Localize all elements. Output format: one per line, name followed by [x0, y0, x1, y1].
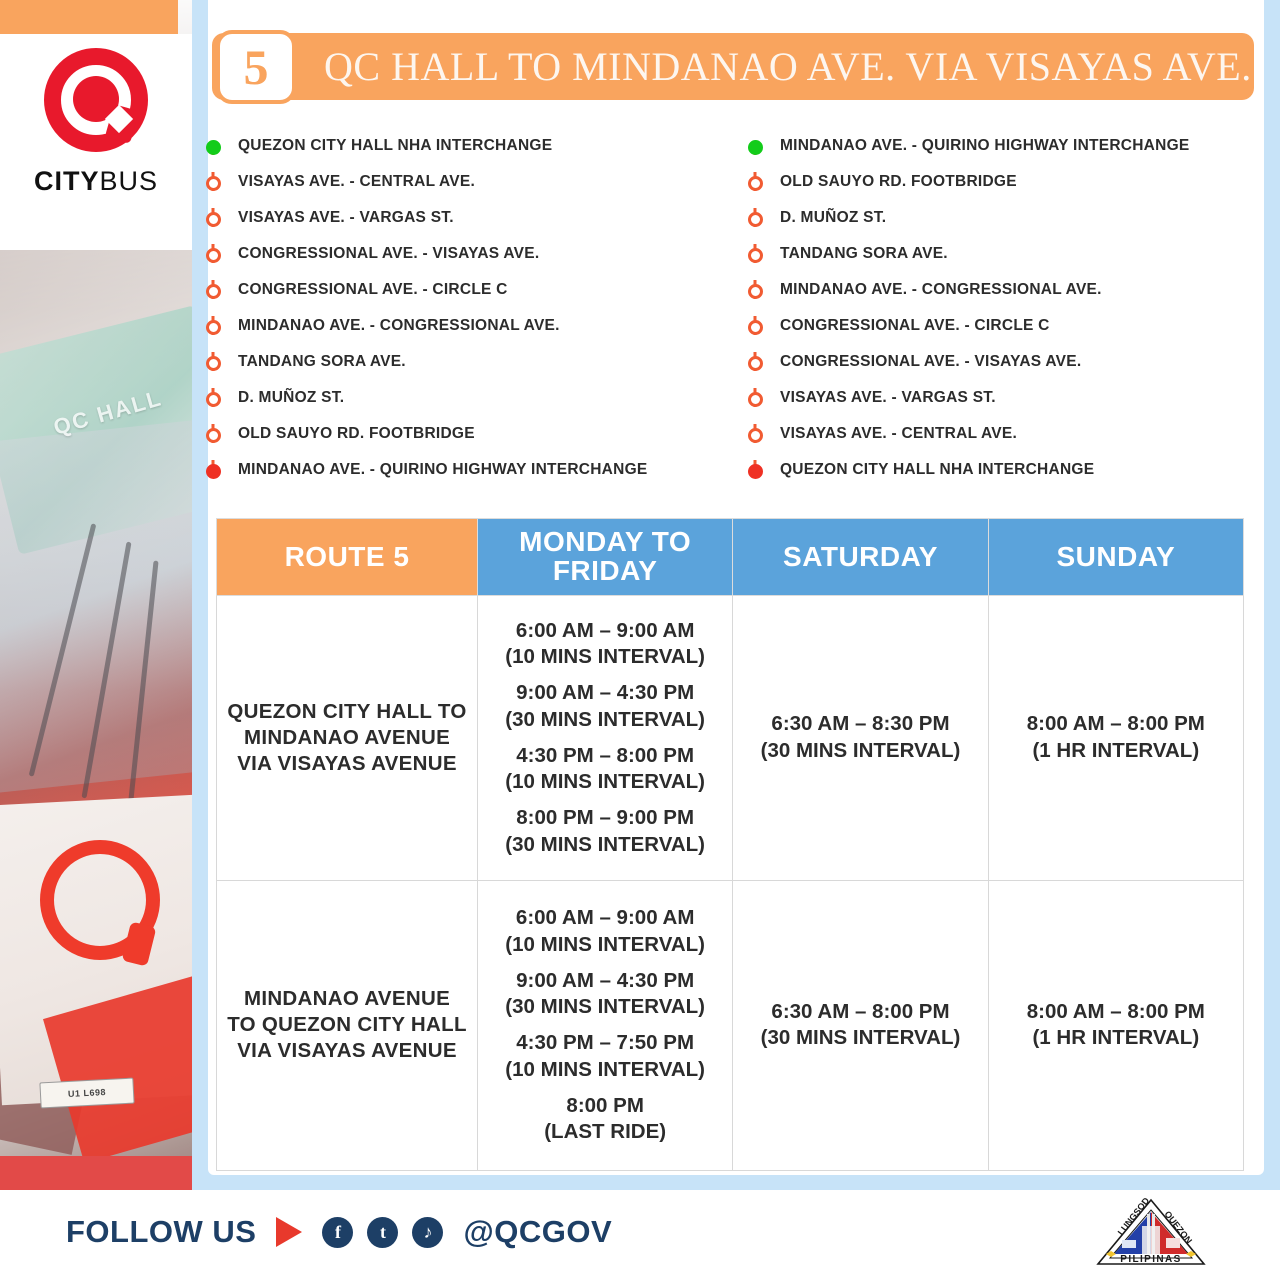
- station-marker-stop: [206, 320, 221, 335]
- citybus-brand: CITYBUS: [0, 48, 192, 238]
- station-name: CONGRESSIONAL AVE. - CIRCLE C: [230, 280, 508, 299]
- station-row[interactable]: QUEZON CITY HALL NHA INTERCHANGE: [738, 460, 1238, 496]
- schedule-block: 9:00 AM – 4:30 PM(30 MINS INTERVAL): [484, 680, 726, 732]
- station-list-inbound: MINDANAO AVE. - QUIRINO HIGHWAY INTERCHA…: [738, 136, 1238, 496]
- station-rail: [738, 208, 772, 227]
- station-marker-stop: [206, 284, 221, 299]
- follow-us-block: FOLLOW US f t ♪ @QCGOV: [66, 1214, 612, 1250]
- station-row[interactable]: VISAYAS AVE. - VARGAS ST.: [196, 208, 716, 244]
- route-number-badge: 5: [216, 30, 296, 104]
- station-rail: [196, 352, 230, 371]
- photo-bottom-red-bar: [0, 1156, 192, 1190]
- station-row[interactable]: OLD SAUYO RD. FOOTBRIDGE: [738, 172, 1238, 208]
- station-row[interactable]: CONGRESSIONAL AVE. - VISAYAS AVE.: [738, 352, 1238, 388]
- station-row[interactable]: CONGRESSIONAL AVE. - CIRCLE C: [738, 316, 1238, 352]
- sunday-schedule-cell: 8:00 AM – 8:00 PM(1 HR INTERVAL): [988, 880, 1243, 1170]
- station-row[interactable]: OLD SAUYO RD. FOOTBRIDGE: [196, 424, 716, 460]
- citybus-wordmark: CITYBUS: [34, 166, 158, 197]
- station-rail: [196, 280, 230, 299]
- facebook-icon[interactable]: f: [322, 1217, 353, 1248]
- station-rail: [738, 388, 772, 407]
- station-rail: [196, 208, 230, 227]
- citybus-q-logo-icon: [44, 48, 148, 152]
- station-name: QUEZON CITY HALL NHA INTERCHANGE: [772, 460, 1094, 479]
- bus-plate-number: U1 L698: [39, 1078, 134, 1109]
- schedule-block: 9:00 AM – 4:30 PM(30 MINS INTERVAL): [484, 968, 726, 1020]
- station-name: VISAYAS AVE. - VARGAS ST.: [772, 388, 996, 407]
- station-name: TANDANG SORA AVE.: [230, 352, 406, 371]
- footer: FOLLOW US f t ♪ @QCGOV LUNGSOD QUEZON PI…: [0, 1190, 1280, 1280]
- station-name: D. MUÑOZ ST.: [230, 388, 344, 407]
- station-row[interactable]: TANDANG SORA AVE.: [196, 352, 716, 388]
- twitter-icon[interactable]: t: [367, 1217, 398, 1248]
- header-saturday: SATURDAY: [733, 519, 988, 596]
- station-row[interactable]: MINDANAO AVE. - QUIRINO HIGHWAY INTERCHA…: [738, 136, 1238, 172]
- saturday-schedule-cell: 6:30 AM – 8:30 PM(30 MINS INTERVAL): [733, 596, 988, 881]
- station-name: MINDANAO AVE. - QUIRINO HIGHWAY INTERCHA…: [230, 460, 647, 479]
- station-row[interactable]: MINDANAO AVE. - CONGRESSIONAL AVE.: [738, 280, 1238, 316]
- station-rail: [738, 460, 772, 479]
- station-row[interactable]: VISAYAS AVE. - VARGAS ST.: [738, 388, 1238, 424]
- schedule-table: ROUTE 5 MONDAY TOFRIDAY SATURDAY SUNDAY …: [216, 518, 1244, 1171]
- seal-pilipinas-text: PILIPINAS: [1120, 1254, 1182, 1265]
- station-rail: [196, 460, 230, 479]
- station-marker-stop: [206, 212, 221, 227]
- station-name: MINDANAO AVE. - CONGRESSIONAL AVE.: [772, 280, 1102, 299]
- row-direction-label: QUEZON CITY HALL TO MINDANAO AVENUE VIA …: [217, 596, 478, 881]
- station-rail: [738, 424, 772, 443]
- station-rail: [738, 136, 772, 155]
- station-rail: [196, 172, 230, 191]
- weekday-schedule-cell: 6:00 AM – 9:00 AM(10 MINS INTERVAL)9:00 …: [478, 596, 733, 881]
- station-name: D. MUÑOZ ST.: [772, 208, 886, 227]
- station-marker-stop: [748, 212, 763, 227]
- route-title: QC HALL TO MINDANAO AVE. VIA VISAYAS AVE…: [324, 43, 1252, 90]
- station-row[interactable]: MINDANAO AVE. - CONGRESSIONAL AVE.: [196, 316, 716, 352]
- social-handle: @QCGOV: [463, 1214, 612, 1250]
- station-marker-stop: [206, 428, 221, 443]
- table-row: MINDANAO AVENUE TO QUEZON CITY HALL VIA …: [217, 880, 1244, 1170]
- station-name: CONGRESSIONAL AVE. - VISAYAS AVE.: [772, 352, 1081, 371]
- wordmark-city: CITY: [34, 166, 100, 196]
- station-name: VISAYAS AVE. - CENTRAL AVE.: [772, 424, 1017, 443]
- station-rail: [738, 172, 772, 191]
- station-rail: [196, 316, 230, 335]
- station-rail: [196, 424, 230, 443]
- station-marker-stop: [748, 284, 763, 299]
- station-rail: [738, 280, 772, 299]
- station-marker-end: [748, 464, 763, 479]
- station-row[interactable]: CONGRESSIONAL AVE. - CIRCLE C: [196, 280, 716, 316]
- station-marker-stop: [748, 320, 763, 335]
- header-route: ROUTE 5: [217, 519, 478, 596]
- tiktok-icon[interactable]: ♪: [412, 1217, 443, 1248]
- route-header-bar: QC HALL TO MINDANAO AVE. VIA VISAYAS AVE…: [212, 33, 1254, 100]
- station-name: OLD SAUYO RD. FOOTBRIDGE: [230, 424, 475, 443]
- station-marker-stop: [206, 356, 221, 371]
- station-name: VISAYAS AVE. - CENTRAL AVE.: [230, 172, 475, 191]
- saturday-schedule-cell: 6:30 AM – 8:00 PM(30 MINS INTERVAL): [733, 880, 988, 1170]
- station-row[interactable]: VISAYAS AVE. - CENTRAL AVE.: [738, 424, 1238, 460]
- station-marker-stop: [748, 248, 763, 263]
- table-row: QUEZON CITY HALL TO MINDANAO AVENUE VIA …: [217, 596, 1244, 881]
- weekday-schedule-cell: 6:00 AM – 9:00 AM(10 MINS INTERVAL)9:00 …: [478, 880, 733, 1170]
- station-marker-start: [748, 140, 763, 155]
- station-marker-stop: [748, 176, 763, 191]
- station-rail: [738, 352, 772, 371]
- station-row[interactable]: D. MUÑOZ ST.: [738, 208, 1238, 244]
- station-rail: [196, 388, 230, 407]
- station-marker-end: [206, 464, 221, 479]
- station-rail: [196, 136, 230, 155]
- wordmark-bus: BUS: [99, 166, 158, 196]
- schedule-block: 6:00 AM – 9:00 AM(10 MINS INTERVAL): [484, 618, 726, 670]
- station-name: TANDANG SORA AVE.: [772, 244, 948, 263]
- header-sunday: SUNDAY: [988, 519, 1243, 596]
- station-name: CONGRESSIONAL AVE. - CIRCLE C: [772, 316, 1050, 335]
- photo-top-orange-bar: [0, 0, 178, 34]
- header-weekday: MONDAY TOFRIDAY: [478, 519, 733, 596]
- station-name: VISAYAS AVE. - VARGAS ST.: [230, 208, 454, 227]
- schedule-block: 4:30 PM – 8:00 PM(10 MINS INTERVAL): [484, 743, 726, 795]
- station-row[interactable]: D. MUÑOZ ST.: [196, 388, 716, 424]
- station-row[interactable]: CONGRESSIONAL AVE. - VISAYAS AVE.: [196, 244, 716, 280]
- station-name: OLD SAUYO RD. FOOTBRIDGE: [772, 172, 1017, 191]
- station-marker-stop: [206, 248, 221, 263]
- station-marker-stop: [748, 428, 763, 443]
- station-marker-stop: [748, 392, 763, 407]
- schedule-block: 4:30 PM – 7:50 PM(10 MINS INTERVAL): [484, 1030, 726, 1082]
- station-marker-stop: [206, 176, 221, 191]
- station-name: QUEZON CITY HALL NHA INTERCHANGE: [230, 136, 552, 155]
- schedule-block: 8:00 PM(LAST RIDE): [484, 1093, 726, 1145]
- station-marker-stop: [748, 356, 763, 371]
- schedule-block: 8:00 PM – 9:00 PM(30 MINS INTERVAL): [484, 805, 726, 857]
- qc-seal-svg: LUNGSOD QUEZON PILIPINAS: [1092, 1196, 1210, 1270]
- play-triangle-icon: [276, 1217, 302, 1247]
- schedule-block: 6:00 AM – 9:00 AM(10 MINS INTERVAL): [484, 905, 726, 957]
- station-rail: [738, 244, 772, 263]
- quezon-city-seal: LUNGSOD QUEZON PILIPINAS: [1092, 1196, 1210, 1270]
- station-rail: [196, 244, 230, 263]
- station-row[interactable]: TANDANG SORA AVE.: [738, 244, 1238, 280]
- station-marker-stop: [206, 392, 221, 407]
- sunday-schedule-cell: 8:00 AM – 8:00 PM(1 HR INTERVAL): [988, 596, 1243, 881]
- bus-rear-q-logo-icon: [40, 840, 160, 960]
- schedule-header-row: ROUTE 5 MONDAY TOFRIDAY SATURDAY SUNDAY: [217, 519, 1244, 596]
- station-name: MINDANAO AVE. - CONGRESSIONAL AVE.: [230, 316, 560, 335]
- station-name: CONGRESSIONAL AVE. - VISAYAS AVE.: [230, 244, 539, 263]
- station-row[interactable]: MINDANAO AVE. - QUIRINO HIGHWAY INTERCHA…: [196, 460, 716, 496]
- station-marker-start: [206, 140, 221, 155]
- station-list-outbound: QUEZON CITY HALL NHA INTERCHANGEVISAYAS …: [196, 136, 716, 496]
- station-name: MINDANAO AVE. - QUIRINO HIGHWAY INTERCHA…: [772, 136, 1189, 155]
- station-rail: [738, 316, 772, 335]
- follow-us-label: FOLLOW US: [66, 1214, 256, 1250]
- station-row[interactable]: QUEZON CITY HALL NHA INTERCHANGE: [196, 136, 716, 172]
- row-direction-label: MINDANAO AVENUE TO QUEZON CITY HALL VIA …: [217, 880, 478, 1170]
- station-row[interactable]: VISAYAS AVE. - CENTRAL AVE.: [196, 172, 716, 208]
